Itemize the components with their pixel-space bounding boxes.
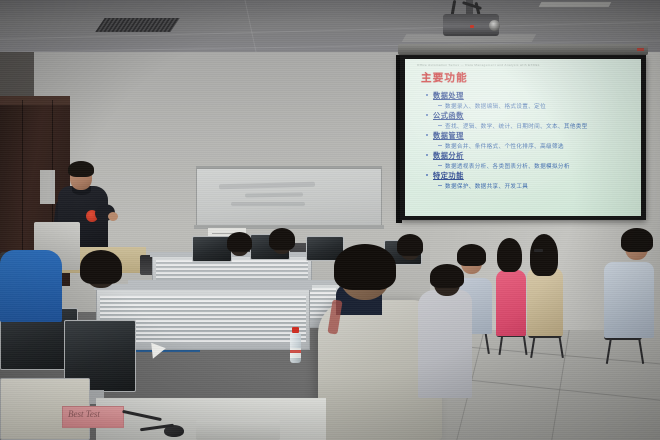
whiteboard-residue (245, 192, 303, 197)
projector-lens-icon (489, 20, 500, 31)
workstation-student-4-hair (397, 234, 423, 256)
bottle-label-stripe (290, 350, 301, 353)
slide-bullet: 公式函数 查找、逻辑、数学、统计、日期时间、文本、其他类型 (425, 111, 631, 130)
bullet-detail: 数据合并、条件格式、个性化排序、高级筛选 (425, 142, 631, 150)
slide-bullet: 数据分析 数据透视表分析、各类图表分析、数据模拟分析 (425, 151, 631, 170)
bullet-dash-icon (438, 185, 442, 186)
bullet-dash-icon (438, 125, 442, 126)
bullet-detail-text: 数据保护、数据共享、开发工具 (445, 184, 528, 190)
workstation-student-2-hair (227, 232, 252, 252)
seated-attendee-3-hair (530, 234, 558, 276)
monitor (192, 236, 232, 262)
screen-housing (398, 44, 648, 55)
bullet-heading: 数据分析 (425, 151, 631, 161)
slide-title: 主要功能 (421, 70, 468, 85)
presenter-hair (68, 161, 94, 177)
bullet-heading: 数据管理 (425, 131, 631, 141)
wood-wall-trim (0, 96, 70, 105)
seated-attendee-4-body (604, 262, 654, 338)
keyboard (196, 420, 280, 440)
ceiling-vent-icon (95, 18, 179, 32)
bullet-dash-icon (438, 105, 442, 106)
adjacent-attendee-hair (430, 264, 464, 288)
whiteboard (196, 168, 382, 226)
seated-attendee-1-hair (457, 244, 486, 266)
workstation-student-3-hair (269, 228, 295, 250)
bullet-detail: 数据录入、数据编辑、格式设置、定位 (425, 102, 631, 110)
wall-posted-paper (40, 170, 55, 204)
bullet-detail-text: 数据合并、条件格式、个性化排序、高级筛选 (445, 144, 564, 150)
adjacent-attendee-body (418, 290, 472, 398)
whiteboard-residue (231, 202, 305, 206)
whiteboard-residue (219, 182, 315, 190)
bullet-heading: 数据处理 (425, 91, 631, 101)
screen-housing-marker (637, 48, 644, 51)
seated-attendee-3-body (527, 268, 563, 336)
bullet-dash-icon (438, 145, 442, 146)
bottle-cap (292, 327, 299, 333)
slide-header: Office Automation Series — Data Manageme… (417, 63, 540, 67)
workstation-student-1-hair (80, 250, 122, 284)
bullet-dash-icon (438, 165, 442, 166)
classroom-photo: Office Automation Series — Data Manageme… (0, 0, 660, 440)
upper-left-shadow (0, 52, 34, 102)
slide-bullet: 数据管理 数据合并、条件格式、个性化排序、高级筛选 (425, 131, 631, 150)
folded-paper-note (151, 341, 167, 358)
seated-attendee-2-body (496, 270, 526, 336)
bullet-heading: 特定功能 (425, 171, 631, 181)
bullet-heading: 公式函数 (425, 111, 631, 121)
bullet-detail: 数据保护、数据共享、开发工具 (425, 182, 631, 190)
bullet-detail: 查找、逻辑、数学、统计、日期时间、文本、其他类型 (425, 122, 631, 130)
desk-pink-label-text: Best Test (68, 409, 100, 419)
slide-bullet: 数据处理 数据录入、数据编辑、格式设置、定位 (425, 91, 631, 110)
projection-screen: Office Automation Series — Data Manageme… (405, 59, 641, 216)
ceiling-light (539, 2, 612, 7)
workstation-student-1-body (0, 250, 62, 322)
monitor-screen (192, 236, 232, 262)
seated-attendee-4-hair (621, 228, 653, 252)
seated-attendee-2-hair (497, 238, 522, 272)
bullet-detail-text: 查找、逻辑、数学、统计、日期时间、文本、其他类型 (445, 124, 588, 130)
presenter-hand (108, 212, 118, 221)
bullet-detail: 数据透视表分析、各类图表分析、数据模拟分析 (425, 162, 631, 170)
partition-rail (94, 284, 312, 290)
glasses-icon (534, 249, 543, 252)
foreground-attendee-hair (334, 244, 396, 290)
slide-bullet: 特定功能 数据保护、数据共享、开发工具 (425, 171, 631, 190)
bullet-detail-text: 数据透视表分析、各类图表分析、数据模拟分析 (445, 164, 570, 170)
projector-led-icon (470, 25, 474, 28)
bullet-detail-text: 数据录入、数据编辑、格式设置、定位 (445, 104, 546, 110)
slide-bullet-list: 数据处理 数据录入、数据编辑、格式设置、定位 公式函数 查找、逻辑、数学、统计、… (425, 91, 631, 191)
